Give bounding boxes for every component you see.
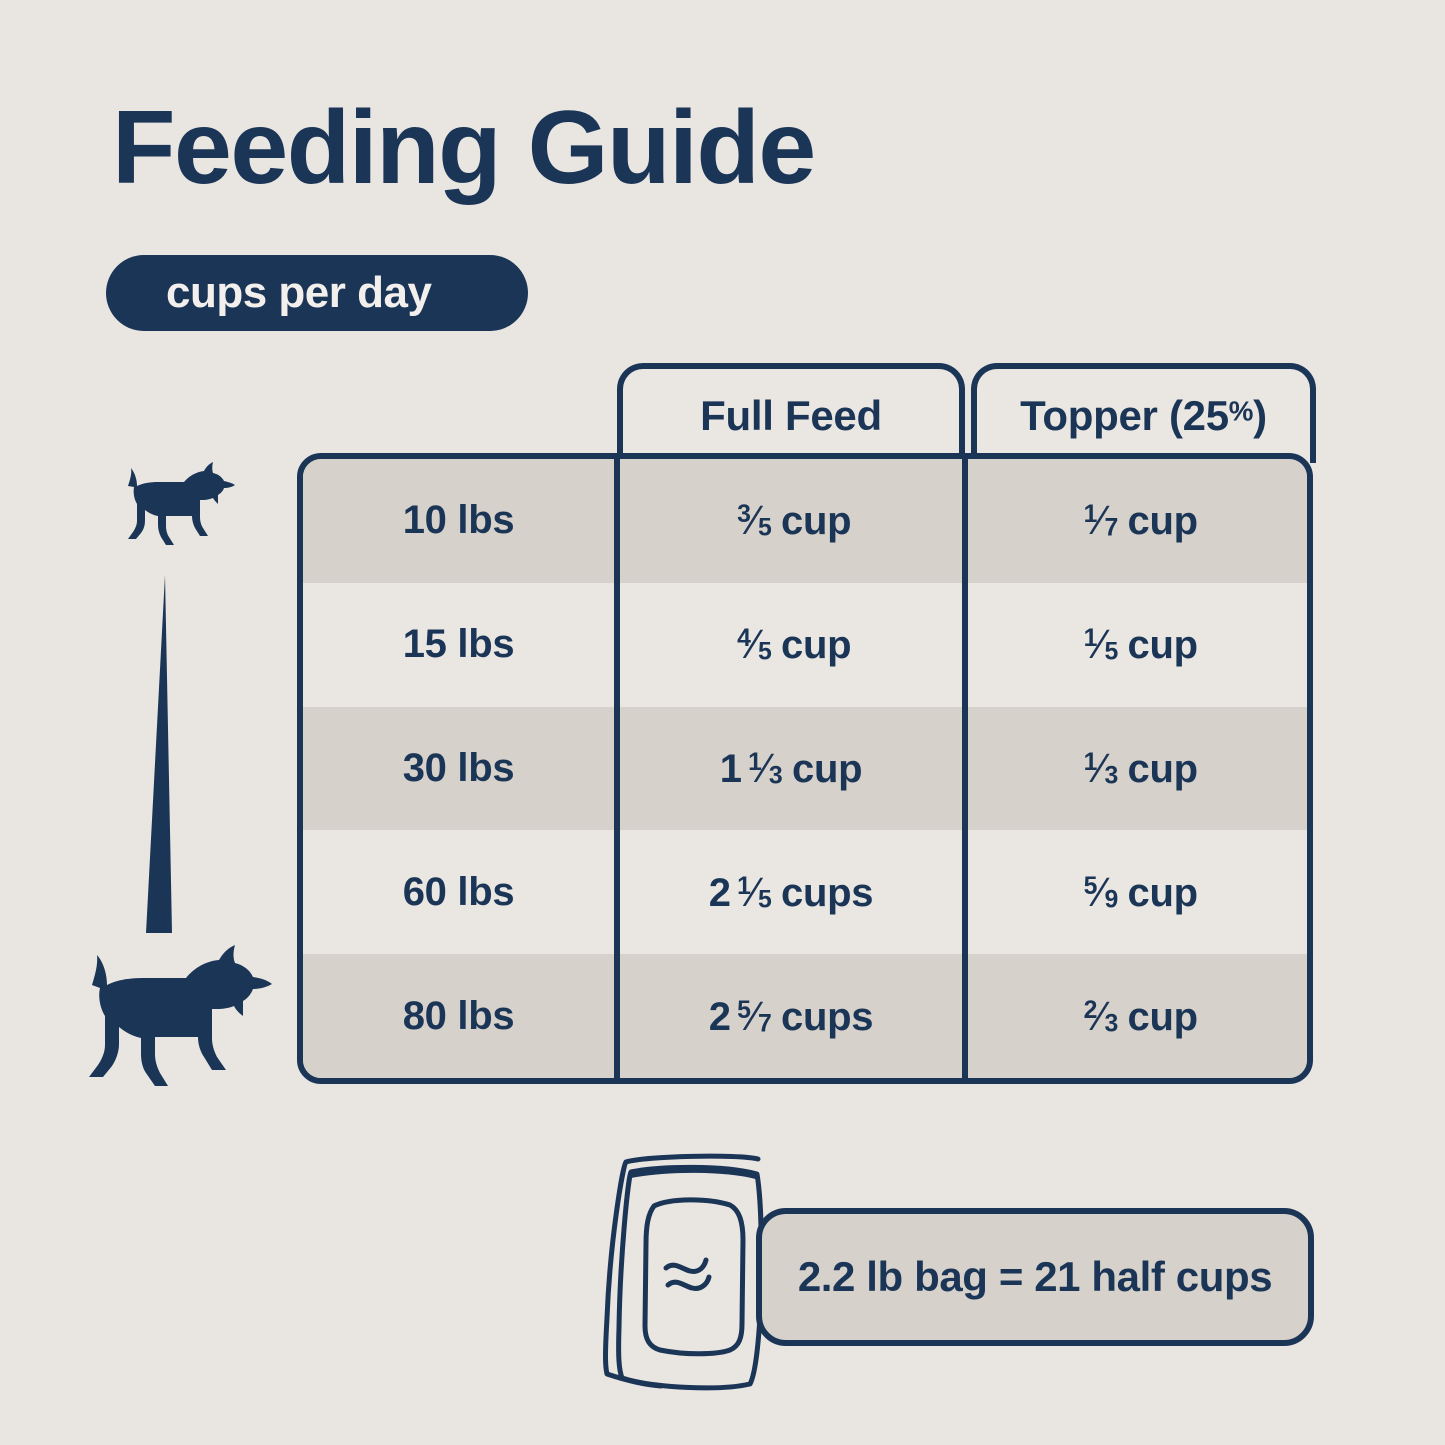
whole-number: 2 <box>709 871 731 915</box>
bag-equivalence-callout: 2.2 lb bag = 21 half cups <box>756 1208 1314 1346</box>
cell-full-feed: 11⁄3cup <box>614 707 962 831</box>
fraction-denominator: 3 <box>769 762 783 789</box>
column-header-topper: Topper (25%) <box>971 363 1316 463</box>
whole-number: 2 <box>709 995 731 1039</box>
fraction-denominator: 3 <box>1104 1010 1118 1037</box>
cell-full-feed: 21⁄5cups <box>614 830 962 954</box>
fraction-denominator: 9 <box>1104 886 1118 913</box>
fraction-denominator: 5 <box>758 639 772 666</box>
cell-topper: 1⁄3cup <box>962 707 1307 831</box>
table-row: 30 lbs 11⁄3cup 1⁄3cup <box>303 707 1307 831</box>
column-header-topper-label: Topper (25%) <box>1020 392 1267 440</box>
bag-equivalence-label: 2.2 lb bag = 21 half cups <box>798 1253 1272 1301</box>
fraction-denominator: 5 <box>758 515 772 542</box>
unit-label: cup <box>1128 747 1198 791</box>
fraction-numerator: 2 <box>1084 997 1098 1024</box>
unit-label: cup <box>1128 995 1198 1039</box>
feeding-table: 10 lbs 3⁄5cup 1⁄7cup 15 lbs 4⁄5cup 1⁄5cu… <box>297 453 1313 1084</box>
table-row: 10 lbs 3⁄5cup 1⁄7cup <box>303 459 1307 583</box>
cell-weight: 30 lbs <box>303 707 614 831</box>
unit-label: cups <box>781 871 873 915</box>
fraction-numerator: 5 <box>1084 873 1098 900</box>
cell-full-feed: 3⁄5cup <box>614 459 962 583</box>
cell-weight: 15 lbs <box>303 583 614 707</box>
cell-weight: 60 lbs <box>303 830 614 954</box>
unit-label: cup <box>1128 871 1198 915</box>
fraction-numerator: 5 <box>737 997 751 1024</box>
fraction-solidus: ⁄ <box>751 497 758 543</box>
fraction-denominator: 7 <box>1104 515 1118 542</box>
cell-full-feed: 4⁄5cup <box>614 583 962 707</box>
percent-symbol: % <box>1229 396 1253 427</box>
cell-topper: 1⁄5cup <box>962 583 1307 707</box>
whole-number: 1 <box>720 747 742 791</box>
table-row: 15 lbs 4⁄5cup 1⁄5cup <box>303 583 1307 707</box>
cell-topper: 1⁄7cup <box>962 459 1307 583</box>
fraction-solidus: ⁄ <box>751 869 758 915</box>
fraction-denominator: 3 <box>1104 762 1118 789</box>
cell-full-feed: 25⁄7cups <box>614 954 962 1078</box>
fraction-numerator: 4 <box>737 625 751 652</box>
fraction-numerator: 1 <box>1084 502 1098 529</box>
table-row: 80 lbs 25⁄7cups 2⁄3cup <box>303 954 1307 1078</box>
subtitle-pill-badge: cups per day <box>106 255 528 331</box>
unit-label: cup <box>1128 499 1198 543</box>
column-header-full-feed: Full Feed <box>617 363 965 463</box>
fraction-denominator: 5 <box>1104 639 1118 666</box>
fraction-solidus: ⁄ <box>751 993 758 1039</box>
topper-suffix: ) <box>1253 392 1267 439</box>
fraction-numerator: 1 <box>748 749 762 776</box>
small-dog-icon <box>128 462 235 545</box>
fraction-numerator: 3 <box>737 502 751 529</box>
fraction-numerator: 1 <box>1084 749 1098 776</box>
fraction-numerator: 1 <box>737 873 751 900</box>
cell-topper: 2⁄3cup <box>962 954 1307 1078</box>
fraction-numerator: 1 <box>1084 625 1098 652</box>
page-title: Feeding Guide <box>112 96 815 200</box>
cell-weight: 10 lbs <box>303 459 614 583</box>
unit-label: cup <box>792 747 862 791</box>
subtitle-pill-label: cups per day <box>106 268 431 318</box>
fraction-solidus: ⁄ <box>751 621 758 667</box>
table-row: 60 lbs 21⁄5cups 5⁄9cup <box>303 830 1307 954</box>
fraction-solidus: ⁄ <box>762 745 769 791</box>
cell-topper: 5⁄9cup <box>962 830 1307 954</box>
unit-label: cup <box>781 623 851 667</box>
cell-weight: 80 lbs <box>303 954 614 1078</box>
column-header-full-feed-label: Full Feed <box>700 392 882 440</box>
unit-label: cup <box>781 499 851 543</box>
fraction-denominator: 7 <box>758 1010 772 1037</box>
size-wedge-icon <box>146 575 172 933</box>
unit-label: cups <box>781 995 873 1039</box>
large-dog-icon <box>89 945 272 1086</box>
unit-label: cup <box>1128 623 1198 667</box>
topper-prefix: Topper (25 <box>1020 392 1229 439</box>
fraction-denominator: 5 <box>758 886 772 913</box>
dog-size-scale <box>70 455 300 1100</box>
